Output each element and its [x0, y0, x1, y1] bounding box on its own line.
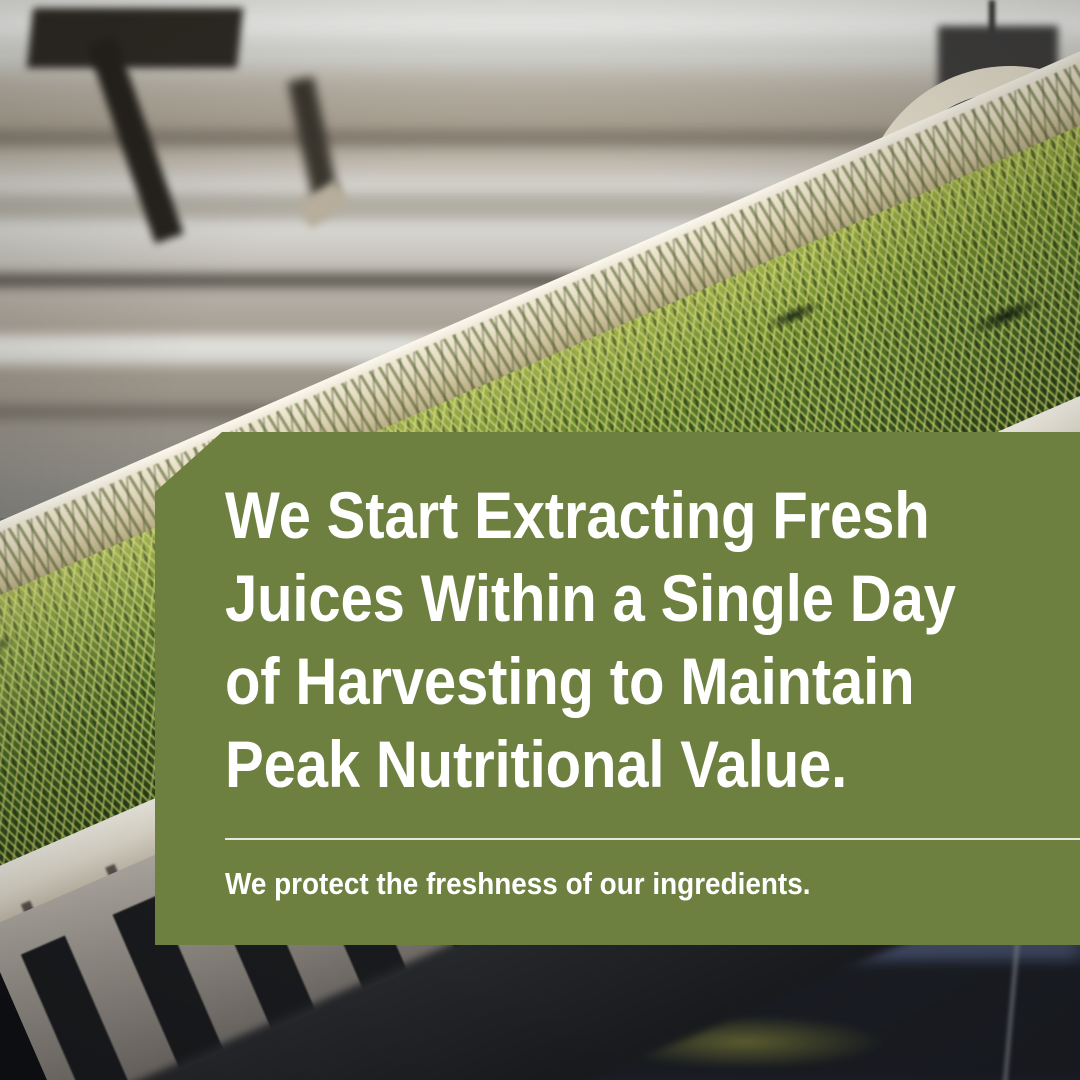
- message-panel: We Start Extracting Fresh Juices Within …: [155, 432, 1080, 945]
- divider: [225, 838, 1080, 840]
- promo-banner: We Start Extracting Fresh Juices Within …: [0, 0, 1080, 1080]
- ceiling-bracket: [27, 8, 243, 68]
- subheadline: We protect the freshness of our ingredie…: [225, 864, 810, 904]
- headline: We Start Extracting Fresh Juices Within …: [225, 474, 977, 806]
